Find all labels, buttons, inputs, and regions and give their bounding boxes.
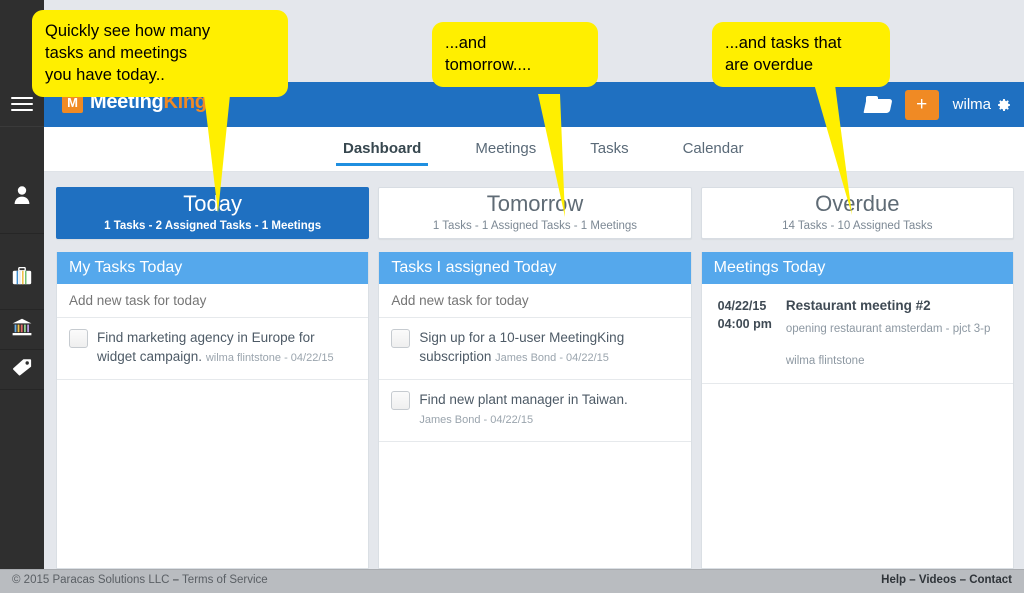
tomorrow-summary-title: Tomorrow: [379, 188, 690, 218]
add-button[interactable]: +: [905, 90, 939, 120]
my-tasks-add-row[interactable]: [57, 284, 368, 318]
assigned-tasks-add-input[interactable]: [391, 293, 678, 308]
footer-separator: –: [173, 574, 179, 586]
assigned-tasks-card-title: Tasks I assigned Today: [379, 252, 690, 284]
main-navigation: Dashboard Meetings Tasks Calendar: [44, 127, 1024, 172]
footer-terms-link[interactable]: Terms of Service: [182, 574, 268, 586]
sidebar-item-tags[interactable]: [0, 350, 44, 390]
meetingking-dashboard: M MeetingKing + wilma Dashboard Meetings…: [0, 0, 1024, 593]
today-summary-counts: 1 Tasks - 2 Assigned Tasks - 1 Meetings: [57, 218, 368, 234]
footer-sep-2: –: [960, 574, 966, 586]
callout-today-tail: [202, 95, 262, 215]
bank-icon: [12, 318, 32, 341]
sidebar-item-organization[interactable]: [0, 310, 44, 350]
task-checkbox[interactable]: [391, 329, 410, 348]
user-menu[interactable]: wilma: [953, 96, 1010, 113]
tag-icon: [12, 358, 32, 381]
meeting-date: 04/22/15: [718, 297, 772, 315]
briefcase-icon: [12, 267, 32, 290]
meeting-description: opening restaurant amsterdam - pjct 3-p: [786, 321, 991, 337]
meeting-title: Restaurant meeting #2: [786, 297, 991, 315]
callout-today-text: Quickly see how many tasks and meetings …: [32, 10, 288, 97]
gear-icon: [997, 98, 1010, 111]
sidebar-item-projects[interactable]: [0, 248, 44, 310]
footer: © 2015 Paracas Solutions LLC – Terms of …: [0, 569, 1024, 593]
task-checkbox[interactable]: [391, 391, 410, 410]
person-icon: [13, 185, 31, 209]
callout-tomorrow-text: ...and tomorrow....: [432, 22, 598, 87]
callout-tomorrow: ...and tomorrow....: [432, 22, 598, 87]
assigned-tasks-card: Tasks I assigned Today Sign up for a 10-…: [378, 252, 691, 569]
meeting-time: 04:00 pm: [718, 315, 772, 333]
task-meta: wilma flintstone - 04/22/15: [206, 352, 334, 364]
footer-help-link[interactable]: Help: [881, 574, 906, 586]
overdue-summary-counts: 14 Tasks - 10 Assigned Tasks: [702, 218, 1013, 234]
dashboard-cards: My Tasks Today Find marketing agency in …: [56, 252, 1014, 569]
task-row[interactable]: Find new plant manager in Taiwan. James …: [379, 380, 690, 442]
meeting-owner: wilma flintstone: [786, 353, 991, 369]
footer-videos-link[interactable]: Videos: [919, 574, 957, 586]
footer-contact-link[interactable]: Contact: [969, 574, 1012, 586]
callout-today: Quickly see how many tasks and meetings …: [32, 10, 288, 97]
tomorrow-summary-counts: 1 Tasks - 1 Assigned Tasks - 1 Meetings: [379, 218, 690, 234]
footer-sep-1: –: [909, 574, 915, 586]
user-name-label: wilma: [953, 96, 991, 113]
sidebar-item-contacts[interactable]: [0, 160, 44, 234]
task-title: Find new plant manager in Taiwan.: [419, 392, 627, 407]
tab-dashboard[interactable]: Dashboard: [316, 127, 448, 172]
task-row[interactable]: Sign up for a 10-user MeetingKing subscr…: [379, 318, 690, 380]
footer-copyright: © 2015 Paracas Solutions LLC: [12, 574, 169, 586]
my-tasks-card: My Tasks Today Find marketing agency in …: [56, 252, 369, 569]
meetings-card: Meetings Today 04/22/15 04:00 pm Restaur…: [701, 252, 1014, 569]
tab-calendar[interactable]: Calendar: [656, 127, 771, 172]
hamburger-icon: [11, 93, 33, 115]
meeting-row[interactable]: 04/22/15 04:00 pm Restaurant meeting #2 …: [702, 284, 1013, 384]
meetings-card-title: Meetings Today: [702, 252, 1013, 284]
callout-overdue-tail: [812, 77, 872, 217]
my-tasks-add-input[interactable]: [69, 293, 356, 308]
task-meta: James Bond - 04/22/15: [495, 352, 609, 364]
task-checkbox[interactable]: [69, 329, 88, 348]
tomorrow-summary-box[interactable]: Tomorrow 1 Tasks - 1 Assigned Tasks - 1 …: [378, 187, 691, 239]
my-tasks-card-title: My Tasks Today: [57, 252, 368, 284]
dashboard-content: Today 1 Tasks - 2 Assigned Tasks - 1 Mee…: [44, 172, 1024, 569]
task-row[interactable]: Find marketing agency in Europe for widg…: [57, 318, 368, 380]
callout-tomorrow-tail: [538, 94, 598, 219]
callout-overdue: ...and tasks that are overdue: [712, 22, 890, 87]
task-meta: James Bond - 04/22/15: [419, 411, 627, 430]
assigned-tasks-add-row[interactable]: [379, 284, 690, 318]
